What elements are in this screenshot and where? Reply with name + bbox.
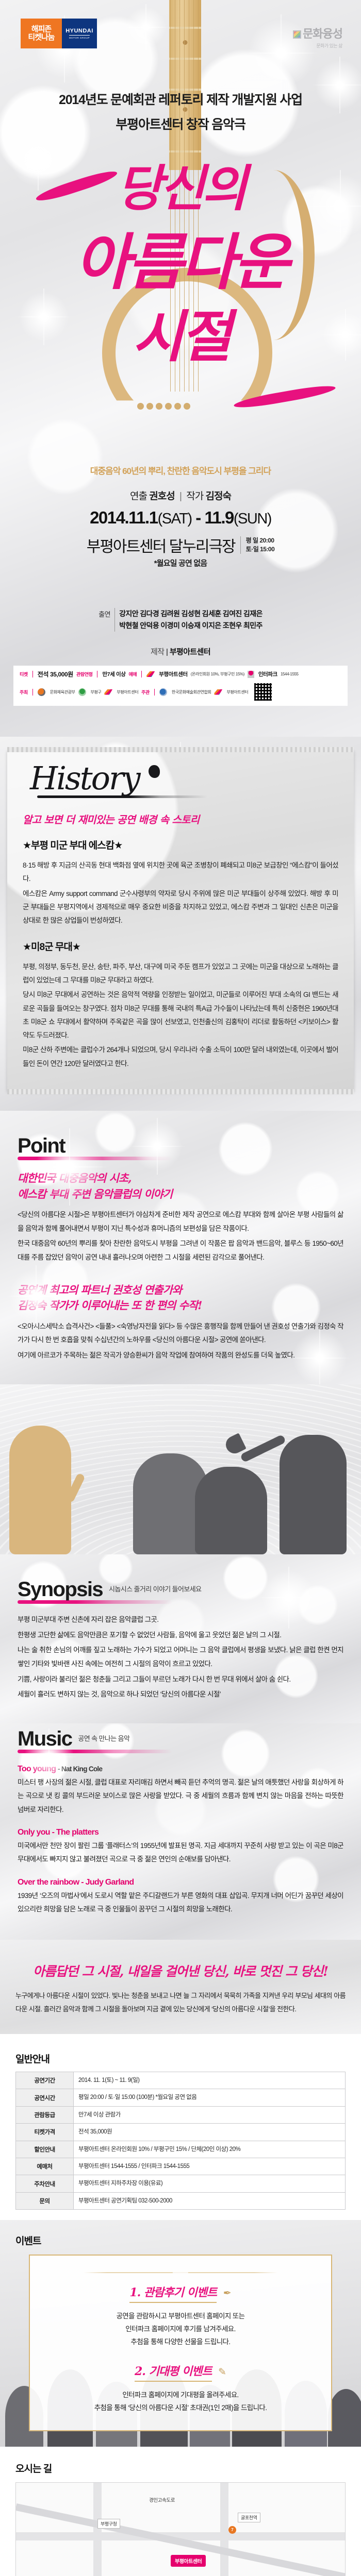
song-body: 1939년 ‘오즈의 마법사’에서 도로시 역할 맡은 주디갈랜드가 부른 영화… bbox=[18, 1889, 343, 1917]
event-1-line-1: 공연을 관람하시고 부평아트센터 홈페이지 또는 bbox=[42, 2310, 319, 2323]
writer-label: 작가 bbox=[186, 491, 203, 502]
info-label: 주차안내 bbox=[16, 2175, 74, 2192]
song-item: Only you - The platters 미국에서만 천만 장이 팔린 그… bbox=[18, 1828, 343, 1867]
hyundai-subtext: MOTOR GROUP bbox=[69, 35, 90, 39]
info-value: 전석 35,000원 bbox=[74, 2124, 346, 2141]
culture-subtitle: 문화가 있는 삶 bbox=[293, 42, 342, 49]
point-heading: Point bbox=[18, 1134, 65, 1158]
event-heading: 이벤트 bbox=[15, 2233, 346, 2247]
table-row: 예매처 부평아트센터 1544-1555 / 인터파크 1544-1555 bbox=[16, 2158, 346, 2175]
table-row: 관람등급 만7세 이상 관람가 bbox=[16, 2106, 346, 2123]
event-1-title: 1. 관람후기 이벤트 bbox=[129, 2283, 217, 2303]
host-label: 주최 bbox=[20, 689, 28, 696]
date-end-day: (SUN) bbox=[234, 511, 271, 527]
credits-separator: | bbox=[179, 491, 182, 502]
song-item: Over the rainbow - Judy Garland 1939년 ‘오… bbox=[18, 1878, 343, 1917]
culture-title: 문화융성 bbox=[293, 25, 342, 41]
closing-quote-body: 누구에게나 아름다운 시절이 있었다. 빛나는 청춘을 보내고 나면 늘 그 자… bbox=[15, 1989, 346, 2015]
history-block2-heading: ★미8군 무대★ bbox=[23, 939, 338, 953]
point-sub2-line1: 공연계 최고의 파트너 권호성 연출가와 bbox=[18, 1282, 343, 1298]
director-label: 연출 bbox=[130, 491, 147, 502]
cast-block: 출연 강지안 김다경 김려원 김성현 김세훈 김여진 김재은 박현철 안덕용 이… bbox=[0, 608, 361, 632]
bupyeong-gu-logo-icon bbox=[78, 688, 86, 696]
event-1-body: 공연을 관람하시고 부평아트센터 홈페이지 또는 인터파크 홈페이지에 후기를 … bbox=[42, 2310, 319, 2349]
hero-section: 해피존 티켓나눔 HYUNDAI MOTOR GROUP 문화융성 문화가 있는… bbox=[0, 0, 361, 737]
production-name: 부평아트센터 bbox=[170, 648, 210, 656]
happy-zone-line2: 티켓나눔 bbox=[28, 33, 54, 42]
song-title: Too young - Nat King Cole bbox=[18, 1765, 343, 1774]
synopsis-p4: 기쁨, 사랑이라 불리던 젊은 청춘들 그리고 그들이 부르던 노래가 다시 한… bbox=[18, 1673, 343, 1687]
info-label: 관람등급 bbox=[16, 2106, 74, 2123]
mcst-logo-icon bbox=[38, 688, 45, 696]
cast-names: 강지안 김다경 김려원 김성현 김세훈 김여진 김재은 박현철 안덕용 이경미 … bbox=[119, 608, 262, 632]
singer-silhouette-icon bbox=[9, 1426, 71, 1554]
info-value: 부평아트센터 지하주차장 이용(유료) bbox=[74, 2175, 346, 2192]
point-sub1-p2: 한국 대중음악 60년의 뿌리를 찾아 찬란한 음악도시 부평을 그려낸 이 작… bbox=[18, 1237, 343, 1264]
table-row: 할인안내 부평아트센터 온라인회원 10% / 부평구민 15% / 단체(20… bbox=[16, 2141, 346, 2158]
point-sub2-heading: 공연계 최고의 파트너 권호성 연출가와 김정숙 작가가 이루어내는 또 한 편… bbox=[18, 1282, 343, 1314]
history-section: History 알고 보면 더 재미있는 공연 배경 속 스토리 ★부평 미군 … bbox=[0, 737, 361, 1111]
point-sub1-heading: 대한민국 대중음악의 시초, 에스캄 부대 주변 음악클럽의 이야기 bbox=[18, 1171, 343, 1202]
synopsis-p3: 나는 술 취한 손님의 어깨를 짚고 노래하는 가수가 되었고 어머니는 그 음… bbox=[18, 1643, 343, 1671]
event-item-1: 1. 관람후기 이벤트 ✒ 공연을 관람하시고 부평아트센터 홈페이지 또는 인… bbox=[42, 2283, 319, 2349]
host-3: 부평아트센터 bbox=[117, 689, 138, 695]
host-organizer-row: 주최 문화체육관광부 부평구 부평아트센터 주관 한국문화예술회관연합회 부평아… bbox=[20, 683, 341, 701]
quill-icon: ✒ bbox=[223, 2288, 232, 2299]
event-item-2: 2. 기대평 이벤트 ✎ 인터파크 홈페이지에 기대평을 올려주세요. 추첨을 … bbox=[42, 2362, 319, 2415]
production-credit: 제작 | 부평아트센터 bbox=[0, 646, 361, 657]
history-block2-p1: 부평, 의정부, 동두천, 문산, 송탄, 파주, 부산, 대구에 미국 주둔 … bbox=[23, 960, 338, 988]
bpac-logo-icon-2 bbox=[104, 689, 112, 695]
color-cube-icon bbox=[293, 30, 301, 39]
show-title-line-3: 시절 bbox=[0, 309, 361, 365]
music-section: Music공연 속 만나는 음악 Too young - Nat King Co… bbox=[0, 1723, 361, 1940]
info-value: 2014. 11. 1(토) ~ 11. 9(일) bbox=[74, 2072, 346, 2089]
org-2: 부평아트센터 bbox=[226, 689, 248, 695]
ticket-label: 티켓 bbox=[20, 671, 28, 677]
point-sub1-line1: 대한민국 대중음악의 시초, bbox=[18, 1171, 343, 1186]
booking-interpark[interactable]: 인터파크 bbox=[258, 670, 277, 678]
event-2-line-2: 추첨을 통해 ‘당신의 아름다운 시절’ 초대권(1인 2매)을 드립니다. bbox=[42, 2402, 319, 2415]
info-label: 할인안내 bbox=[16, 2141, 74, 2158]
event-section: 이벤트 1. 관람후기 이벤트 ✒ 공연을 관람하시고 부평아트센터 홈페이지 … bbox=[0, 2220, 361, 2447]
song-item: Too young - Nat King Cole 미스터 팽 사장의 젊은 시… bbox=[18, 1765, 343, 1817]
song-title-text: Too young bbox=[18, 1765, 56, 1773]
sparkle-icon bbox=[123, 4, 169, 50]
host-1: 문화체육관광부 bbox=[50, 689, 75, 695]
event-1-title-row: 1. 관람후기 이벤트 ✒ bbox=[42, 2283, 319, 2303]
table-row: 공연시간 평일 20:00 / 토·일 15:00 (100분) *월요일 공연… bbox=[16, 2089, 346, 2106]
org-1: 한국문화예술회관연합회 bbox=[172, 689, 211, 695]
writer-name: 김정숙 bbox=[206, 491, 231, 502]
hyundai-wordmark: HYUNDAI bbox=[65, 28, 93, 34]
bpac-logo-icon bbox=[146, 671, 155, 677]
location-map[interactable]: 부평아트센터 부평구청 부평역 굴포천역 부평시장역 삼산체육관역 경인고속도로… bbox=[15, 2482, 346, 2576]
map-label-gulpocheon-station: 굴포천역 bbox=[238, 2513, 260, 2522]
synopsis-p5: 세월이 흘러도 변하지 않는 것, 음악으로 하나 되었던 ‘당신의 아름다운 … bbox=[18, 1688, 343, 1702]
venue-divider bbox=[240, 536, 241, 554]
venue-map-marker[interactable]: 부평아트센터 bbox=[171, 2555, 206, 2567]
history-block1-p2: 에스캄은 Army support command 군수사령부의 약자로 당시 … bbox=[23, 887, 338, 928]
venue-name: 부평아트센터 달누리극장 bbox=[87, 534, 235, 556]
cast-row-1: 강지안 김다경 김려원 김성현 김세훈 김여진 김재은 bbox=[119, 608, 262, 620]
happy-zone-logo: 해피존 티켓나눔 bbox=[21, 19, 62, 48]
trumpet-player-silhouette-icon bbox=[280, 1435, 347, 1554]
point-sub2-line2: 김정숙 작가가 이루어내는 또 한 편의 수작! bbox=[18, 1298, 343, 1313]
synopsis-p1: 부평 미군부대 주변 신촌에 자리 잡은 음악클럽 그곳. bbox=[18, 1613, 343, 1627]
event-2-title-row: 2. 기대평 이벤트 ✎ bbox=[42, 2362, 319, 2382]
subway-line-7-icon: 7 bbox=[228, 2526, 236, 2534]
ornament-divider bbox=[84, 2269, 277, 2276]
booking-phone: 1544-1555 bbox=[281, 672, 299, 676]
closing-quote-section: 아름답던 그 시절, 내일을 걸어낸 당신, 바로 멋진 그 당신! 누구에게나… bbox=[0, 1940, 361, 2034]
ink-blot-icon bbox=[149, 765, 160, 778]
point-section: Point 대한민국 대중음악의 시초, 에스캄 부대 주변 음악클럽의 이야기… bbox=[0, 1111, 361, 1384]
map-label-expressway: 경인고속도로 bbox=[149, 2496, 175, 2503]
synopsis-heading: Synopsis시놉시스 줄거리 이야기 들어보세요 bbox=[18, 1578, 201, 1601]
show-title-line-1: 당신의 bbox=[0, 164, 361, 213]
history-block1-p1: 8·15 해방 후 지금의 산곡동 현대 백화점 옆에 위치한 곳에 육군 조병… bbox=[23, 859, 338, 886]
directions-section: 오시는 길 부평아트센터 부평구청 부평역 굴포천역 부평시장역 삼산체육관역 … bbox=[0, 2447, 361, 2576]
synopsis-heading-sub: 시놉시스 줄거리 이야기 들어보세요 bbox=[109, 1585, 201, 1593]
table-row: 공연기간 2014. 11. 1(토) ~ 11. 9(일) bbox=[16, 2072, 346, 2089]
production-label: 제작 bbox=[151, 648, 164, 656]
info-label: 예매처 bbox=[16, 2158, 74, 2175]
show-dates: 2014.11.1(SAT) - 11.9(SUN) bbox=[0, 508, 361, 528]
happy-zone-line1: 해피존 bbox=[31, 25, 51, 33]
event-1-line-2: 인터파크 홈페이지에 후기를 남겨주세요. bbox=[42, 2323, 319, 2336]
no-monday-note: *월요일 공연 없음 bbox=[0, 557, 361, 568]
history-block2-p3: 미8군 산하 주변에는 클럽수가 264개나 되었으며, 당시 우리나라 수출 … bbox=[23, 1043, 338, 1071]
music-heading: Music공연 속 만나는 음악 bbox=[18, 1727, 129, 1751]
info-value: 부평아트센터 1544-1555 / 인터파크 1544-1555 bbox=[74, 2158, 346, 2175]
date-start-day: (SAT) bbox=[158, 511, 192, 527]
general-info-heading: 일반안내 bbox=[15, 2052, 346, 2065]
history-paper-card: History 알고 보면 더 재미있는 공연 배경 속 스토리 ★부평 미군 … bbox=[7, 750, 354, 1091]
booking-discount: (온라인회원 10%, 부평구민 15%) bbox=[191, 671, 244, 677]
history-heading-text: History bbox=[30, 759, 139, 797]
info-label: 문의 bbox=[16, 2192, 74, 2209]
qr-code-icon[interactable] bbox=[254, 683, 272, 701]
culture-title-text: 문화융성 bbox=[303, 27, 342, 40]
synopsis-p2: 한평생 고단한 삶에도 음악만큼은 포기할 수 없었던 사람들, 음악에 울고 … bbox=[18, 1629, 343, 1642]
show-title-line-2: 아름다운 bbox=[0, 232, 361, 293]
song-title: Over the rainbow - Judy Garland bbox=[18, 1878, 343, 1887]
map-label-bupyeong-gu-office: 부평구청 bbox=[97, 2519, 120, 2529]
show-tagline: 대중음악 60년의 뿌리, 찬란한 음악도시 부평을 그리다 bbox=[0, 464, 361, 477]
event-2-body: 인터파크 홈페이지에 기대평을 올려주세요. 추첨을 통해 ‘당신의 아름다운 … bbox=[42, 2389, 319, 2415]
creative-credits: 연출 권호성 | 작가 김정숙 bbox=[0, 488, 361, 502]
showtimes: 평 일 20:00 토·일 15:00 bbox=[246, 536, 275, 554]
synopsis-section: Synopsis시놉시스 줄거리 이야기 들어보세요 부평 미군부대 주변 신촌… bbox=[0, 1554, 361, 1723]
ticket-info-row: 티켓 전석 35,000원 관람연령 만7세 이상 예매 부평아트센터 (온라인… bbox=[20, 670, 341, 679]
music-heading-sub: 공연 속 만나는 음악 bbox=[78, 1735, 129, 1742]
culture-ministry-logo: 문화융성 문화가 있는 삶 bbox=[293, 25, 342, 49]
song-body: 미국에서만 천만 장이 팔린 그룹 ‘플래터스’의 1955년에 발표된 명곡.… bbox=[18, 1839, 343, 1867]
promo-page: 해피존 티켓나눔 HYUNDAI MOTOR GROUP 문화융성 문화가 있는… bbox=[0, 0, 361, 2576]
event-1-line-3: 추첨을 통해 다양한 선물을 드립니다. bbox=[42, 2336, 319, 2349]
history-heading: History bbox=[30, 762, 338, 794]
booking-bpac[interactable]: 부평아트센터 bbox=[159, 670, 188, 678]
table-row: 문의 부평아트센터 공연기획팀 032-500-2000 bbox=[16, 2192, 346, 2209]
info-value: 부평아트센터 공연기획팀 032-500-2000 bbox=[74, 2192, 346, 2209]
song-title: Only you - The platters bbox=[18, 1828, 343, 1837]
song-title-text: Over the rainbow - Judy Garland bbox=[18, 1878, 134, 1887]
venue-row: 부평아트센터 달누리극장 평 일 20:00 토·일 15:00 bbox=[0, 534, 361, 556]
info-label: 공연기간 bbox=[16, 2072, 74, 2089]
bpac-logo-icon-3 bbox=[214, 689, 222, 695]
hyundai-logo: HYUNDAI MOTOR GROUP bbox=[62, 19, 97, 48]
song-title-text: Only you - The platters bbox=[18, 1828, 99, 1837]
director-name: 권호성 bbox=[149, 491, 174, 502]
booking-label: 예매 bbox=[128, 671, 137, 677]
event-card: 1. 관람후기 이벤트 ✒ 공연을 관람하시고 부평아트센터 홈페이지 또는 인… bbox=[29, 2255, 332, 2431]
cast-divider bbox=[114, 608, 115, 632]
host-2: 부평구 bbox=[91, 689, 102, 695]
age-value: 만7세 이상 bbox=[102, 670, 125, 678]
history-block1-heading: ★부평 미군 부대 에스캄★ bbox=[23, 838, 338, 852]
history-block2-p2: 당시 미8군 무대에서 공연하는 것은 음악적 역량을 인정받는 일이었고, 미… bbox=[23, 988, 338, 1042]
kocaca-logo-icon bbox=[159, 688, 167, 696]
date-end: 11.9 bbox=[204, 508, 233, 527]
musician-silhouette-band bbox=[0, 1384, 361, 1554]
directions-heading: 오시는 길 bbox=[15, 2461, 346, 2475]
age-label: 관람연령 bbox=[76, 671, 93, 677]
synopsis-body: 부평 미군부대 주변 신촌에 자리 잡은 음악클럽 그곳. 한평생 고단한 삶에… bbox=[18, 1613, 343, 1702]
music-heading-text: Music bbox=[18, 1727, 72, 1750]
history-hand-note: 알고 보면 더 재미있는 공연 배경 속 스토리 bbox=[23, 811, 338, 826]
point-sub1-line2: 에스캄 부대 주변 음악클럽의 이야기 bbox=[18, 1187, 343, 1202]
event-2-title: 2. 기대평 이벤트 bbox=[135, 2362, 212, 2382]
guitar-bridge-pins bbox=[137, 403, 199, 413]
showtime-weekday: 평 일 20:00 bbox=[246, 536, 275, 545]
date-start: 2014.11.1 bbox=[90, 508, 158, 527]
info-value: 만7세 이상 관람가 bbox=[74, 2106, 346, 2123]
sparkle-icon bbox=[129, 1118, 186, 1175]
pencil-icon: ✎ bbox=[218, 2367, 226, 2378]
table-row: 주차안내 부평아트센터 지하주차장 이용(유료) bbox=[16, 2175, 346, 2192]
audience-silhouette-icon-2 bbox=[195, 1467, 267, 1554]
info-label: 공연시간 bbox=[16, 2089, 74, 2106]
song-body: 미스터 팽 사장의 젊은 시절, 클럽 대표로 자리매김 하면서 빼곡 듣던 추… bbox=[18, 1776, 343, 1817]
song-artist: - Nat King Cole bbox=[58, 1765, 102, 1773]
point-sub1-p1: <당신의 아름다운 시절>은 부평아트센터가 야심차게 준비한 제작 공연으로 … bbox=[18, 1208, 343, 1235]
event-2-line-1: 인터파크 홈페이지에 기대평을 올려주세요. bbox=[42, 2389, 319, 2402]
ticket-price: 전석 35,000원 bbox=[38, 670, 73, 679]
general-info-table: 공연기간 2014. 11. 1(토) ~ 11. 9(일) 공연시간 평일 2… bbox=[15, 2072, 346, 2210]
closing-quote-headline: 아름답던 그 시절, 내일을 걸어낸 당신, 바로 멋진 그 당신! bbox=[15, 1961, 346, 1980]
ticket-sponsor-strip: 티켓 전석 35,000원 관람연령 만7세 이상 예매 부평아트센터 (온라인… bbox=[13, 666, 348, 706]
general-info-section: 일반안내 공연기간 2014. 11. 1(토) ~ 11. 9(일) 공연시간… bbox=[0, 2034, 361, 2220]
info-value: 평일 20:00 / 토·일 15:00 (100분) *월요일 공연 없음 bbox=[74, 2089, 346, 2106]
history-block1-body: 8·15 해방 후 지금의 산곡동 현대 백화점 옆에 위치한 곳에 육군 조병… bbox=[23, 859, 338, 928]
program-line-2: 부평아트센터 창작 음악극 bbox=[0, 114, 361, 133]
cast-row-2: 박현철 안덕용 이경미 이승재 이지은 조현우 최민주 bbox=[119, 620, 262, 632]
header-sponsor-logos: 해피존 티켓나눔 HYUNDAI MOTOR GROUP bbox=[21, 19, 97, 48]
synopsis-heading-text: Synopsis bbox=[18, 1578, 103, 1601]
program-line-1: 2014년도 문예회관 레퍼토리 제작 개발지원 사업 bbox=[0, 90, 361, 108]
history-block2-body: 부평, 의정부, 동두천, 문산, 송탄, 파주, 부산, 대구에 미국 주둔 … bbox=[23, 960, 338, 1071]
table-row: 티켓가격 전석 35,000원 bbox=[16, 2124, 346, 2141]
info-label: 티켓가격 bbox=[16, 2124, 74, 2141]
interpark-logo-icon bbox=[248, 671, 254, 678]
info-value: 부평아트센터 온라인회원 10% / 부평구민 15% / 단체(20인 이상)… bbox=[74, 2141, 346, 2158]
point-sub2-p2: 여기에 아르코가 주목하는 젊은 작곡가 양승환씨가 음악 작업에 참여하여 작… bbox=[18, 1349, 343, 1363]
showtime-weekend: 토·일 15:00 bbox=[246, 545, 275, 554]
point-sub2-p1: <오아시스세탁소 습격사건> <들풀> <숙영낭자전을 읽다> 등 수많은 흥행… bbox=[18, 1320, 343, 1347]
cast-label: 출연 bbox=[99, 608, 114, 619]
organizer-label: 주관 bbox=[141, 689, 150, 696]
